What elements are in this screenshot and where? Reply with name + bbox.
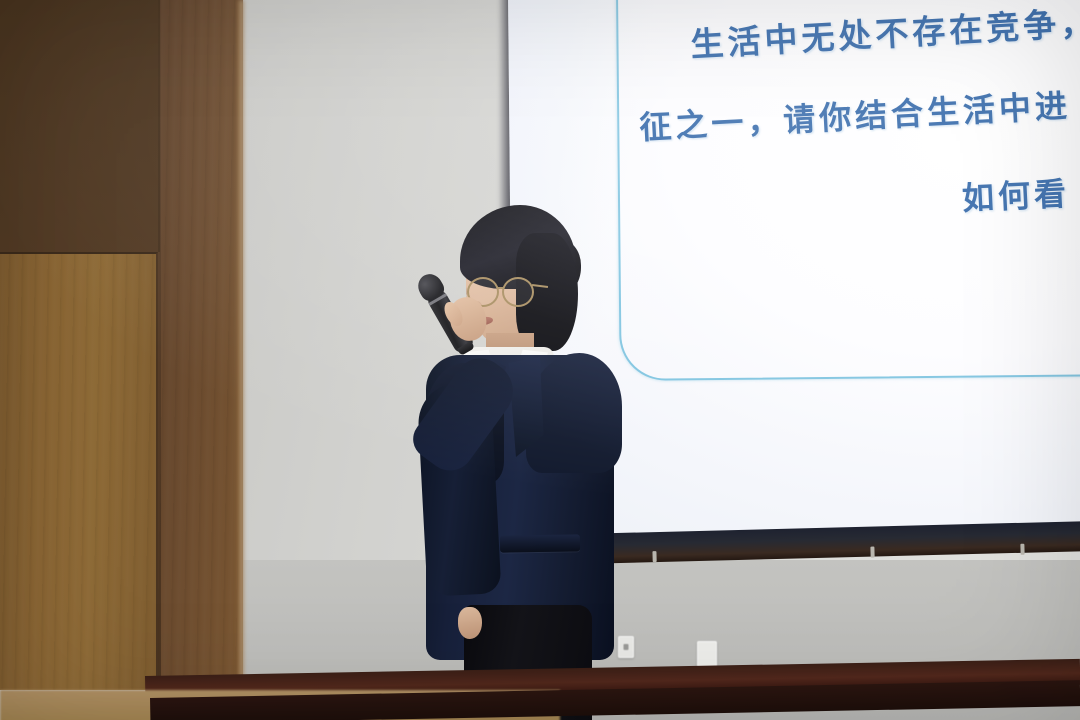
microphone-head <box>414 270 448 305</box>
slide-line-2: 征之一，请你结合生活中进 <box>638 81 1072 149</box>
screen-bar-clip <box>652 551 656 562</box>
slide-line-3: 如何看 <box>961 168 1071 219</box>
wood-wall-panel <box>0 0 243 690</box>
glasses-bridge <box>498 287 504 289</box>
wood-panel-seam <box>158 0 161 690</box>
slide-line-1: 生活中无处不存在竞争，竞 <box>689 0 1080 66</box>
presenter <box>408 205 643 720</box>
blazer-pocket-flap <box>500 534 580 552</box>
wood-panel-edge-highlight <box>238 0 244 690</box>
screen-bar-clip <box>1020 544 1024 555</box>
screen-bar-clip <box>870 547 874 558</box>
photo-scene: 生活中无处不存在竞争，竞 征之一，请你结合生活中进 如何看 <box>0 0 1080 720</box>
glasses-lens-right <box>502 277 534 307</box>
wood-panel-inset <box>0 252 158 690</box>
wall-outlet-right[interactable] <box>697 641 717 667</box>
wood-panel-upper <box>0 0 160 252</box>
wood-inset-grain <box>0 254 156 690</box>
hand-at-side <box>458 607 482 639</box>
